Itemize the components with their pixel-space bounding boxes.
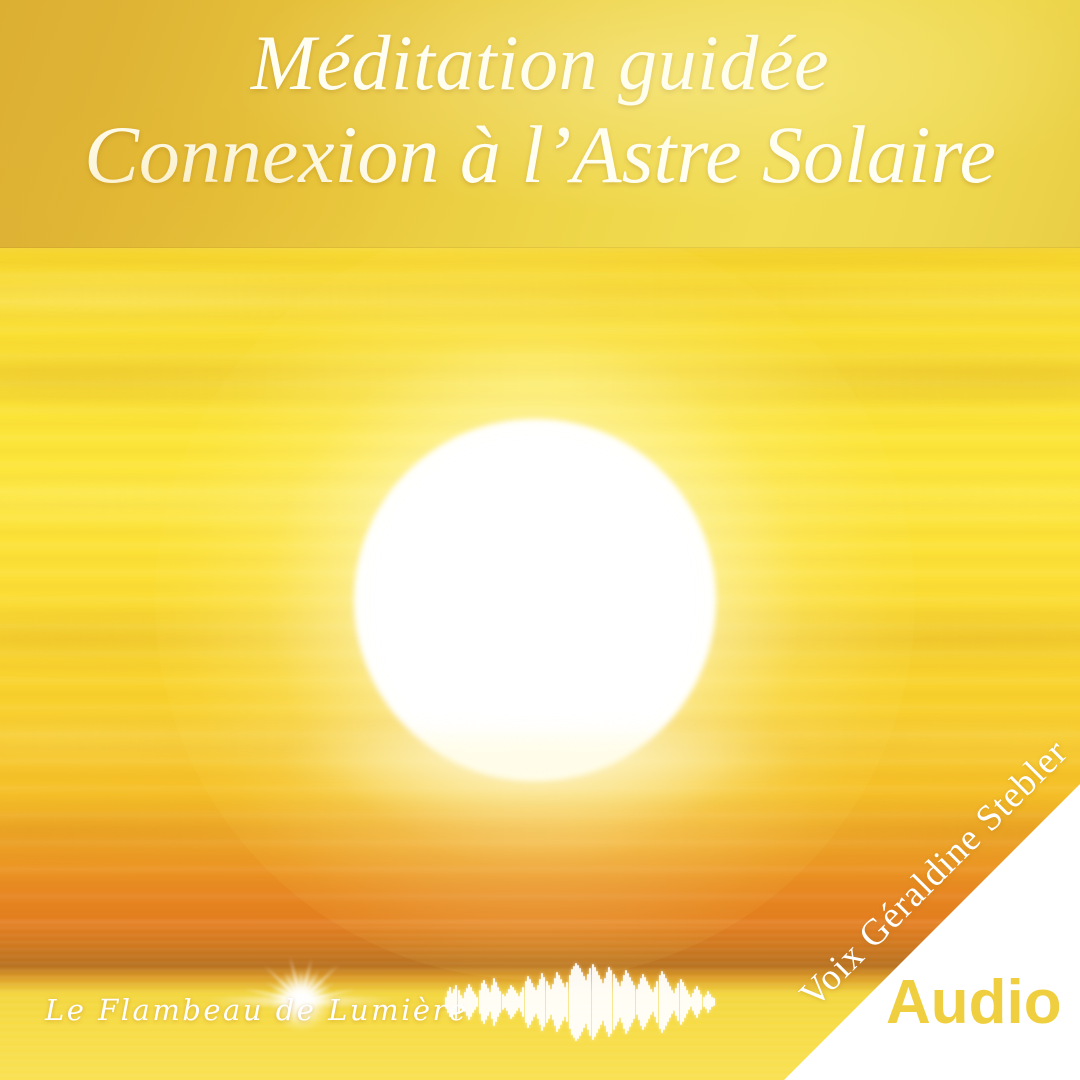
cloud-band xyxy=(0,810,1080,850)
sun-horizon-haze xyxy=(290,735,790,815)
sun-disc-icon xyxy=(354,419,716,781)
status-badge: Audio xyxy=(886,972,1062,1034)
album-cover: Méditation guidée Connexion à l’Astre So… xyxy=(0,0,1080,1080)
page-title: Méditation guidée Connexion à l’Astre So… xyxy=(0,24,1080,196)
cloud-band xyxy=(0,616,1080,656)
title-line-2: Connexion à l’Astre Solaire xyxy=(0,114,1080,196)
title-band: Méditation guidée Connexion à l’Astre So… xyxy=(0,0,1080,248)
cloud-band xyxy=(0,486,1080,514)
cloud-band xyxy=(0,724,1080,758)
sun-glow xyxy=(155,220,915,980)
cloud-band xyxy=(0,356,1080,402)
title-line-1: Méditation guidée xyxy=(0,24,1080,102)
cloud-band xyxy=(0,281,1080,311)
